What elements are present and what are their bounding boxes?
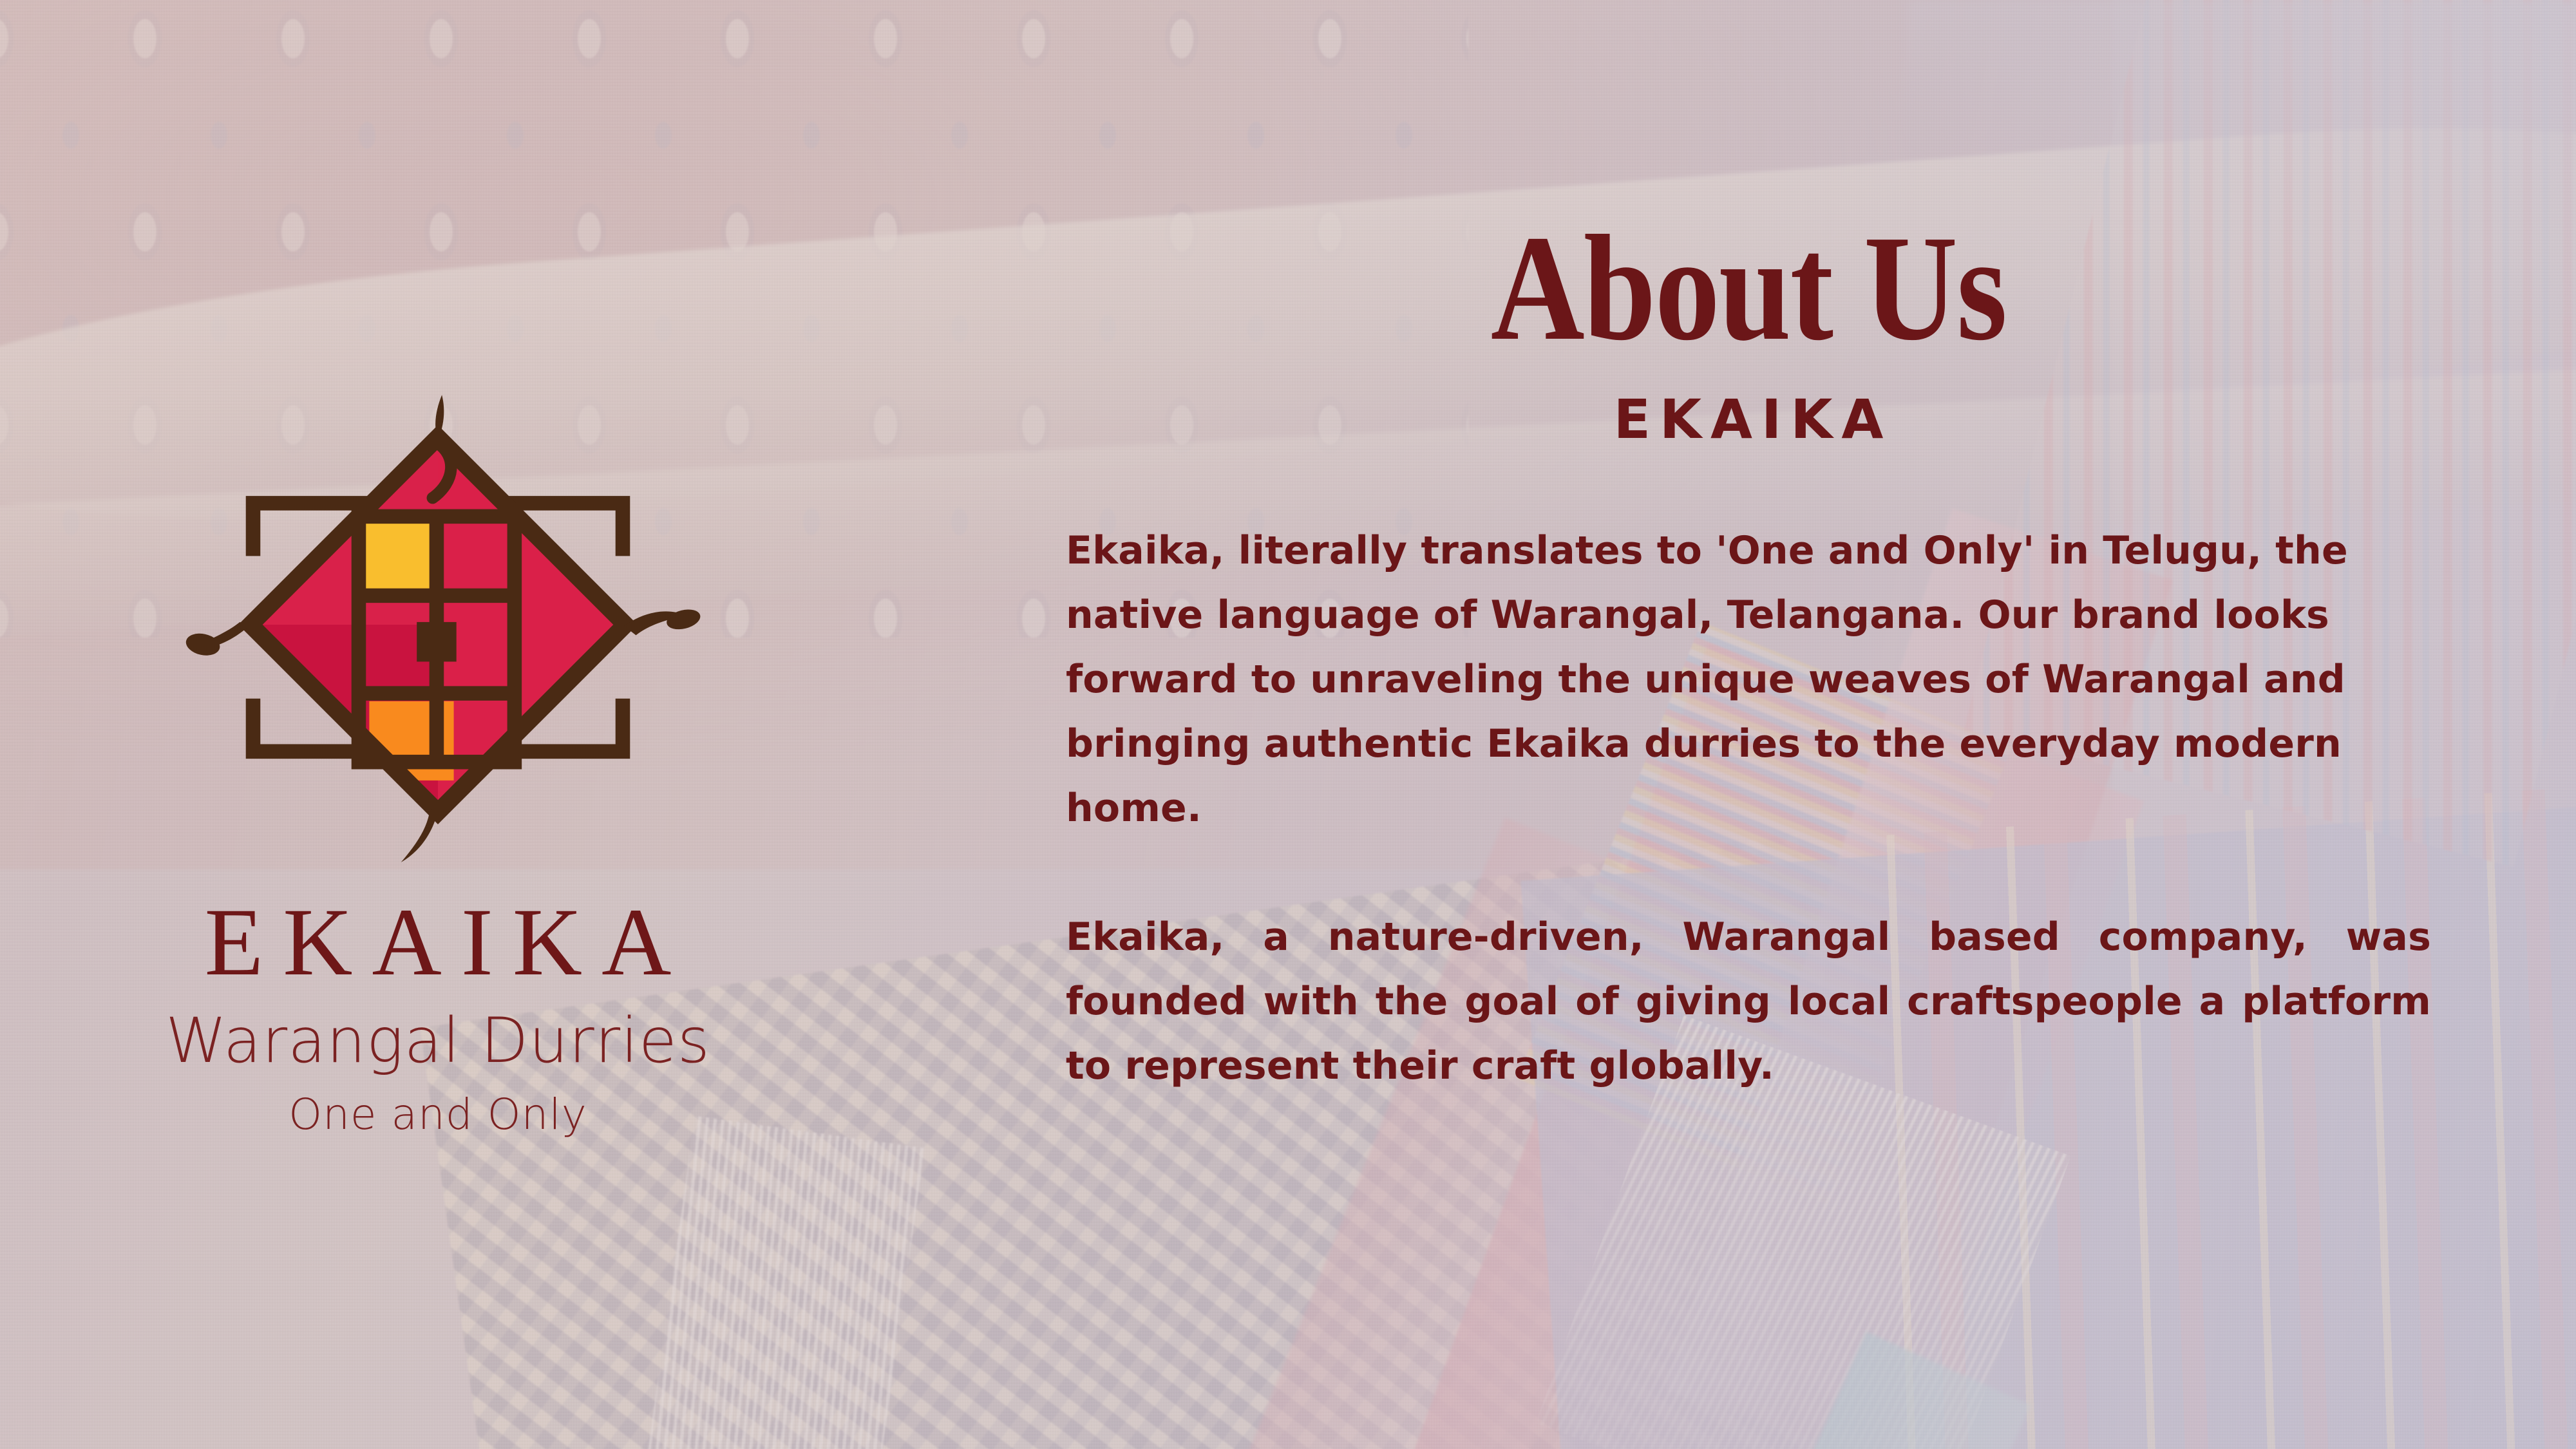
about-paragraph: Ekaika, a nature-driven, Warangal based … [1066,905,2431,1098]
page-title: About Us [1161,213,2335,364]
ekaika-diamond-emblem-icon [174,361,702,889]
logo-subline: Warangal Durries [166,1010,710,1072]
about-us-slide: EKAIKA Warangal Durries One and Only Abo… [0,0,2576,1449]
slide-content: EKAIKA Warangal Durries One and Only Abo… [0,0,2576,1449]
about-paragraph: Ekaika, literally translates to 'One and… [1066,518,2431,840]
brand-subtitle: EKAIKA [1066,392,2431,446]
logo-tagline: One and Only [289,1094,587,1136]
about-body-copy: Ekaika, literally translates to 'One and… [1066,518,2431,1098]
brand-logo-lockup: EKAIKA Warangal Durries One and Only [84,361,792,1136]
logo-wordmark: EKAIKA [185,894,691,990]
about-panel: About Us EKAIKA Ekaika, literally transl… [1066,213,2431,1098]
